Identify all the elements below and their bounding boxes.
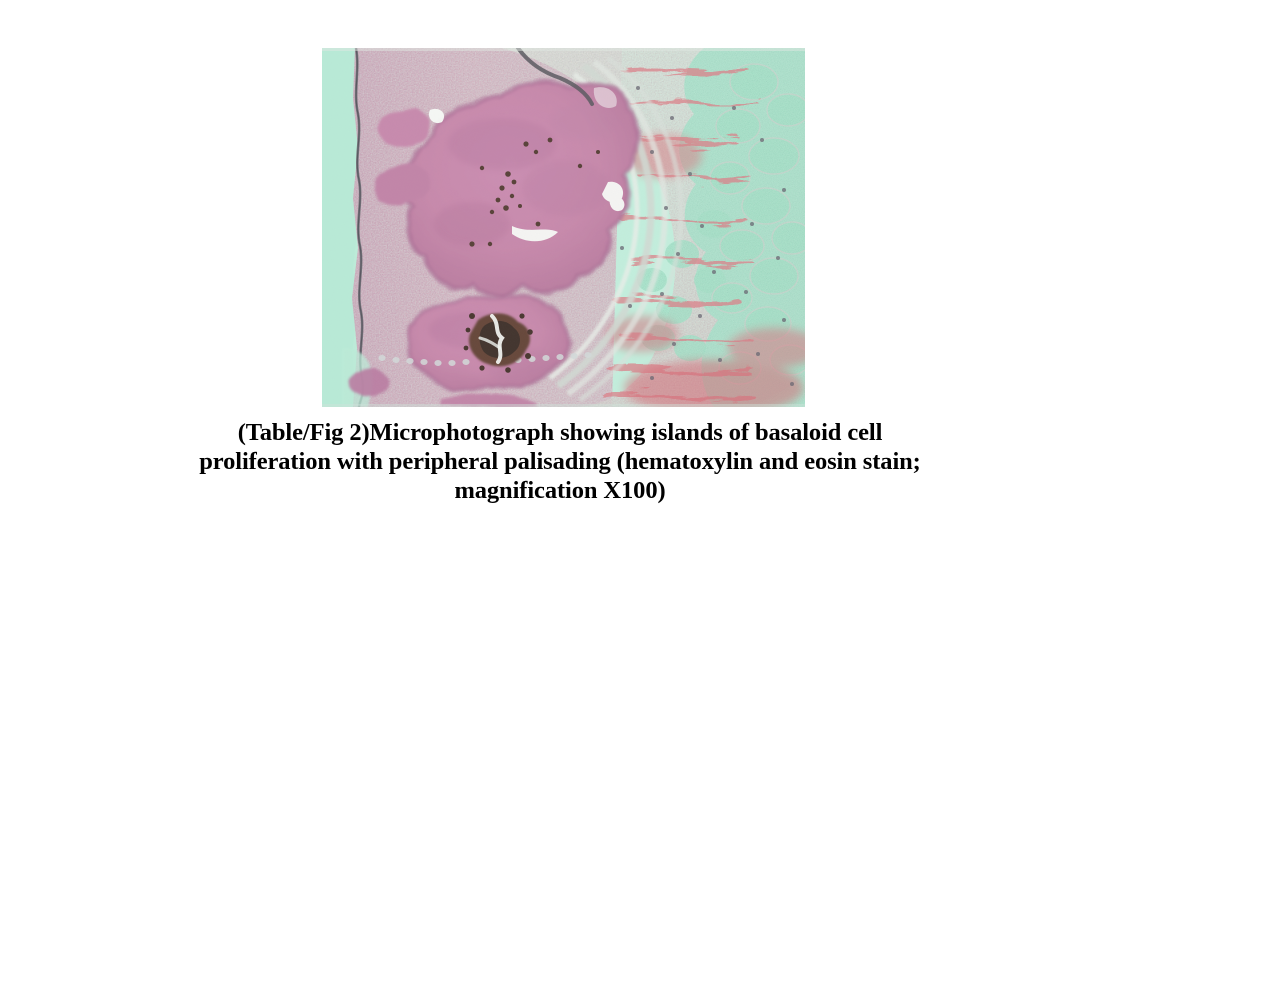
figure-caption: (Table/Fig 2)Microphotograph showing isl… [120, 418, 1000, 505]
caption-line-2: proliferation with peripheral palisading… [120, 447, 1000, 476]
top-edge [322, 48, 805, 51]
histology-microphotograph-image [322, 48, 805, 407]
caption-line-1: (Table/Fig 2)Microphotograph showing isl… [120, 418, 1000, 447]
caption-line-3: magnification X100) [120, 476, 1000, 505]
global-grain-overlay [322, 48, 805, 407]
histology-svg [322, 48, 805, 407]
bottom-edge [322, 404, 805, 407]
